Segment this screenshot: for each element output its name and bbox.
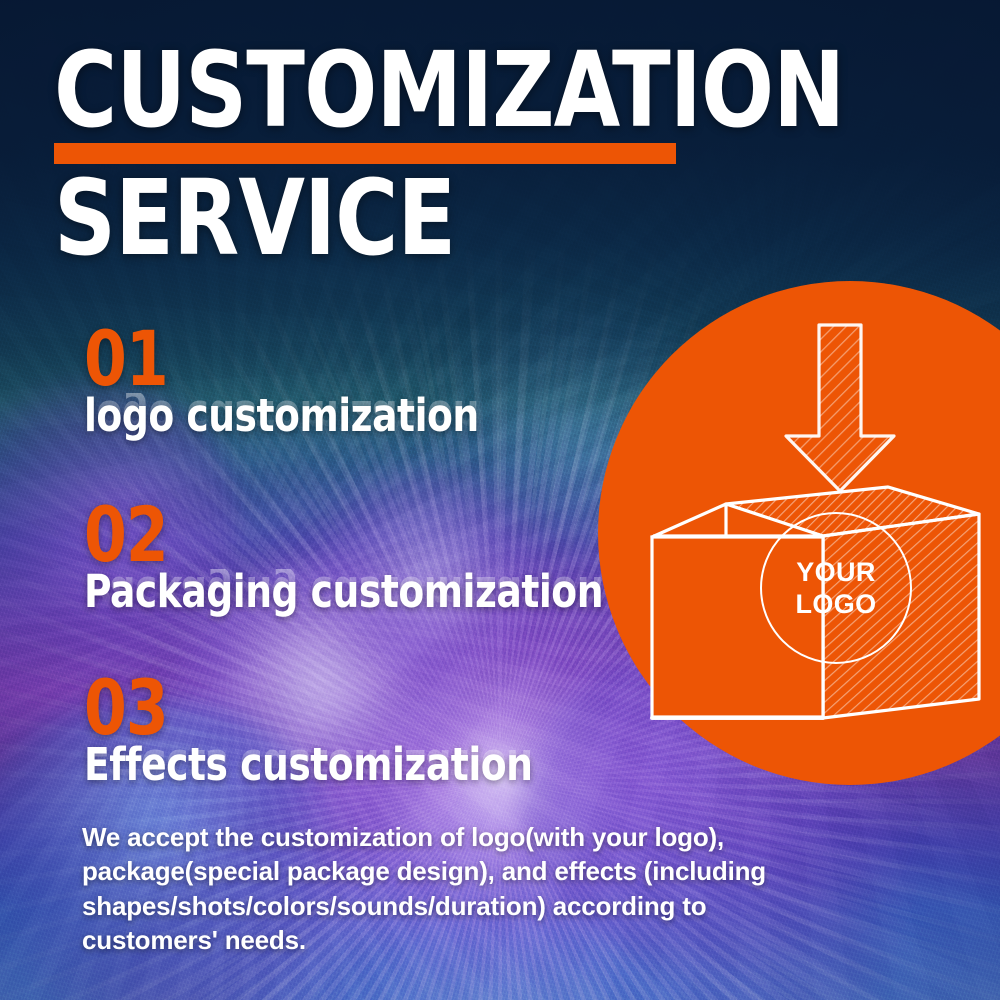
logo-placeholder-line-2: LOGO xyxy=(795,589,876,619)
logo-placeholder-circle-icon: YOUR LOGO xyxy=(760,512,912,664)
service-label-wrap: Effects customization Effects customizat… xyxy=(84,742,566,788)
logo-placeholder-line-1: YOUR xyxy=(796,557,876,587)
title-line-primary: CUSTOMIZATION xyxy=(54,46,698,135)
service-number: 01 xyxy=(84,327,466,391)
promo-poster: CUSTOMIZATION SERVICE 01 logo customizat… xyxy=(0,0,1000,1000)
service-label: logo customization xyxy=(84,393,479,439)
page-title: CUSTOMIZATION SERVICE xyxy=(54,46,754,273)
service-item-01: 01 logo customization logo customization xyxy=(84,327,508,439)
title-line-secondary: SERVICE xyxy=(54,174,698,263)
service-label-wrap: logo customization logo customization xyxy=(84,393,508,439)
service-number: 03 xyxy=(84,676,518,740)
arrow-down-icon xyxy=(786,325,894,491)
service-label: Packaging customization xyxy=(84,569,603,615)
service-label-wrap: Packaging customization Packaging custom… xyxy=(84,569,642,615)
service-item-03: 03 Effects customization Effects customi… xyxy=(84,676,566,788)
service-item-02: 02 Packaging customization Packaging cus… xyxy=(84,503,642,615)
service-number: 02 xyxy=(84,503,586,567)
service-label: Effects customization xyxy=(84,742,533,788)
description-paragraph: We accept the customization of logo(with… xyxy=(82,820,842,957)
